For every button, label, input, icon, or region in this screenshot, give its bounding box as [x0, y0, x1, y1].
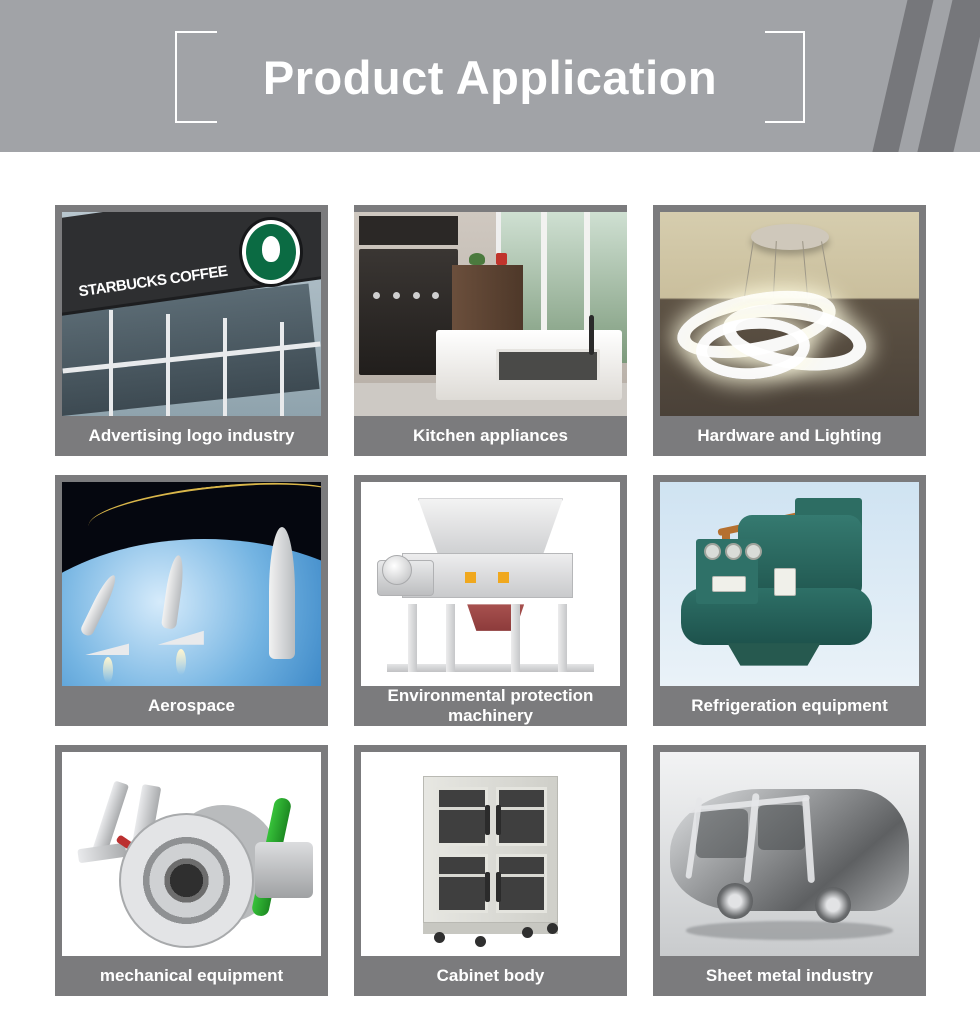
application-card[interactable]: Environmental protection machinery	[354, 475, 627, 726]
application-card-label: Kitchen appliances	[354, 416, 627, 456]
modern-kitchen-photo	[354, 212, 627, 416]
page-title: Product Application	[175, 31, 805, 123]
page-header-banner: Product Application	[0, 0, 980, 152]
refrigeration-compressor-photo	[660, 482, 919, 686]
application-card[interactable]: Cabinet body	[354, 745, 627, 996]
application-card-label: Advertising logo industry	[55, 416, 328, 456]
application-card[interactable]: Refrigeration equipment	[653, 475, 926, 726]
application-card-label: Sheet metal industry	[653, 956, 926, 996]
application-card-label: Refrigeration equipment	[653, 686, 926, 726]
application-card-label: Aerospace	[55, 686, 328, 726]
application-card[interactable]: Aerospace	[55, 475, 328, 726]
application-card-label: Cabinet body	[354, 956, 627, 996]
dry-storage-cabinet-photo	[361, 752, 620, 956]
led-ring-chandelier-photo	[660, 212, 919, 416]
application-card[interactable]: mechanical equipment	[55, 745, 328, 996]
starbucks-storefront-photo: STARBUCKS COFFEE	[62, 212, 321, 416]
application-card[interactable]: Hardware and Lighting	[653, 205, 926, 456]
industrial-shredder-photo	[361, 482, 620, 686]
application-card-label: Hardware and Lighting	[653, 416, 926, 456]
automotive-clutch-parts-photo	[62, 752, 321, 956]
application-card-grid: STARBUCKS COFFEE Advertising logo indust…	[55, 205, 926, 996]
application-card[interactable]: Sheet metal industry	[653, 745, 926, 996]
car-body-frame-photo	[660, 752, 919, 956]
banner-title-group: Product Application	[175, 31, 805, 123]
application-card[interactable]: Kitchen appliances	[354, 205, 627, 456]
rockets-in-orbit-photo	[62, 482, 321, 686]
application-card-label: mechanical equipment	[55, 956, 328, 996]
application-card[interactable]: STARBUCKS COFFEE Advertising logo indust…	[55, 205, 328, 456]
product-application-page: Product Application STARBUCKS COFFEE	[0, 0, 980, 1030]
application-card-label: Environmental protection machinery	[354, 686, 627, 726]
